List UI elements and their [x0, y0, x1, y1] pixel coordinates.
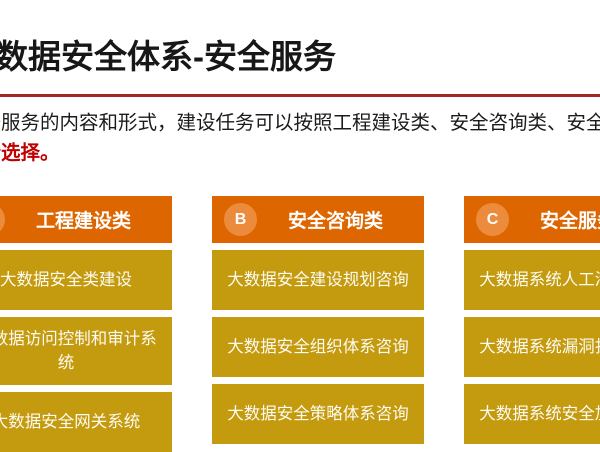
- list-item[interactable]: 大数据安全类建设: [0, 250, 172, 310]
- list-item[interactable]: 大数据访问控制和审计系统: [0, 317, 172, 385]
- list-item[interactable]: 大数据安全建设规划咨询: [212, 250, 424, 310]
- category-column-a: A 工程建设类 大数据安全类建设 大数据访问控制和审计系统 大数据安全网关系统: [0, 196, 172, 452]
- title-divider: [0, 94, 600, 97]
- lead-paragraph: 根据服务的内容和形式，建设任务可以按照工程建设类、安全咨询类、安全服务类: [0, 108, 600, 138]
- page-title: 大数据安全体系-安全服务: [0, 30, 336, 78]
- list-item[interactable]: 大数据安全策略体系咨询: [212, 384, 424, 444]
- category-columns: A 工程建设类 大数据安全类建设 大数据访问控制和审计系统 大数据安全网关系统 …: [0, 196, 600, 452]
- column-title-a: 工程建设类: [5, 206, 172, 233]
- column-header-a[interactable]: A 工程建设类: [0, 196, 172, 243]
- column-header-b[interactable]: B 安全咨询类: [212, 196, 424, 243]
- column-title-b: 安全咨询类: [257, 206, 424, 233]
- list-item[interactable]: 大数据系统人工渗透测试: [464, 250, 600, 310]
- list-item[interactable]: 大数据安全组织体系咨询: [212, 317, 424, 377]
- column-title-c: 安全服务类: [509, 206, 600, 233]
- lead-paragraph-accent: 进行选择。: [0, 138, 60, 168]
- column-header-c[interactable]: C 安全服务类: [464, 196, 600, 243]
- slide-canvas: 大数据安全体系-安全服务 根据服务的内容和形式，建设任务可以按照工程建设类、安全…: [0, 0, 600, 400]
- category-column-c: C 安全服务类 大数据系统人工渗透测试 大数据系统漏洞扫描服务 大数据系统安全加…: [464, 196, 600, 452]
- list-item[interactable]: 大数据系统漏洞扫描服务: [464, 317, 600, 377]
- column-badge-b: B: [224, 203, 257, 236]
- column-badge-c: C: [476, 203, 509, 236]
- list-item[interactable]: 大数据安全网关系统: [0, 392, 172, 452]
- category-column-b: B 安全咨询类 大数据安全建设规划咨询 大数据安全组织体系咨询 大数据安全策略体…: [212, 196, 424, 452]
- list-item[interactable]: 大数据系统安全加固服务: [464, 384, 600, 444]
